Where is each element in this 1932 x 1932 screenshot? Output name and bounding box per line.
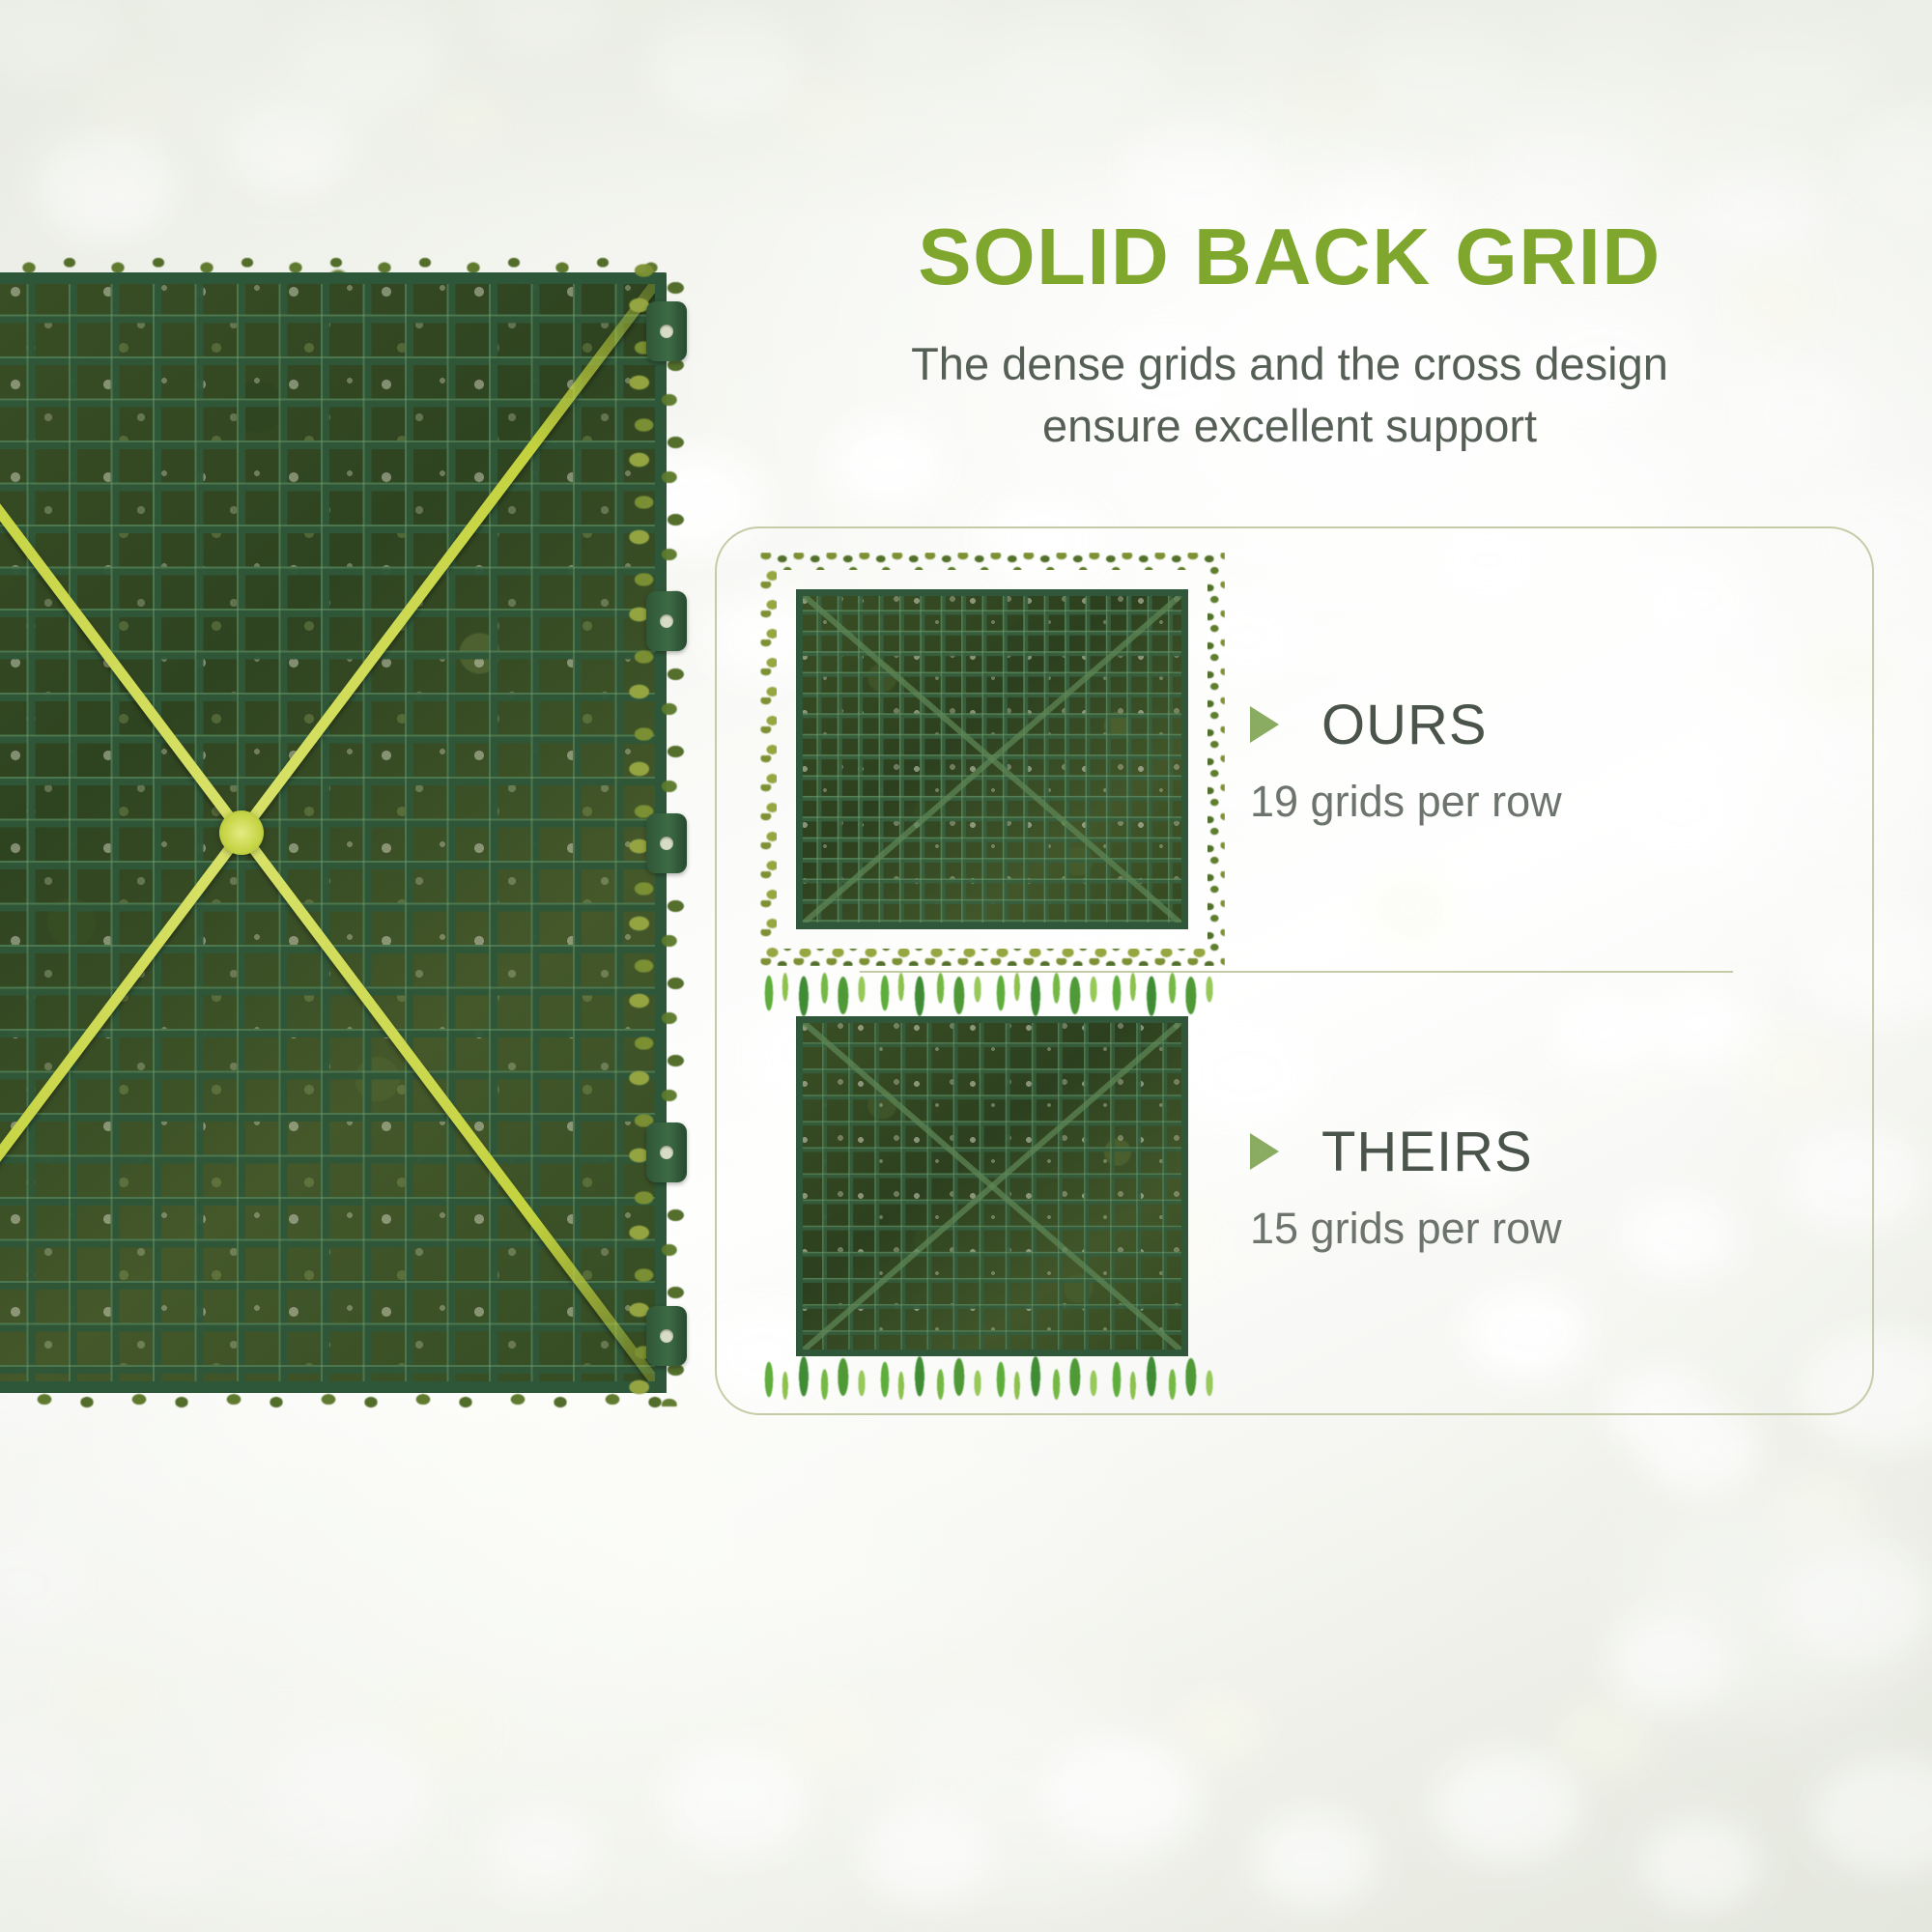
thumb-panel-theirs: [796, 1016, 1188, 1356]
background-top-fade: [0, 0, 1932, 222]
product-thumbnail-theirs: [775, 995, 1209, 1378]
subtitle-line-2: ensure excellent support: [676, 395, 1903, 457]
comparison-title-ours: OURS: [1321, 693, 1488, 757]
subtitle-line-1: The dense grids and the cross design: [676, 333, 1903, 395]
page-subtitle: The dense grids and the cross design ens…: [676, 333, 1903, 457]
comparison-caption-theirs: 15 grids per row: [1250, 1204, 1818, 1254]
comparison-labels-theirs: THEIRS 15 grids per row: [1209, 1120, 1818, 1254]
comparison-card: OURS 19 grids per row: [715, 526, 1874, 1415]
comparison-labels-ours: OURS 19 grids per row: [1209, 693, 1818, 827]
connector-tab-middle: [646, 813, 687, 873]
hedge-panel-mat: [0, 272, 667, 1393]
triangle-right-icon: [1250, 706, 1279, 743]
mixed-foliage-tuft-top: [757, 962, 1227, 1024]
thumb-frame-theirs: [796, 1016, 1188, 1356]
comparison-row-theirs: THEIRS 15 grids per row: [775, 975, 1818, 1398]
panel-frame-border: [0, 272, 667, 1393]
comparison-title-line-theirs: THEIRS: [1250, 1120, 1818, 1184]
thumb-frame-ours: [796, 589, 1188, 929]
comparison-title-theirs: THEIRS: [1321, 1120, 1533, 1184]
mixed-foliage-tuft-bottom: [757, 1349, 1227, 1410]
thumb-panel-ours: [796, 589, 1188, 929]
infographic-canvas: SOLID BACK GRID The dense grids and the …: [0, 0, 1932, 1932]
triangle-right-icon: [1250, 1133, 1279, 1170]
product-image-main: [0, 272, 667, 1393]
connector-tab-upper: [646, 591, 687, 651]
connector-tab-bottom: [646, 1306, 687, 1366]
comparison-row-ours: OURS 19 grids per row: [775, 548, 1818, 971]
comparison-title-line-ours: OURS: [1250, 693, 1818, 757]
connector-tab-lower: [646, 1122, 687, 1182]
product-thumbnail-ours: [775, 568, 1209, 951]
page-title: SOLID BACK GRID: [676, 214, 1903, 298]
comparison-caption-ours: 19 grids per row: [1250, 777, 1818, 827]
